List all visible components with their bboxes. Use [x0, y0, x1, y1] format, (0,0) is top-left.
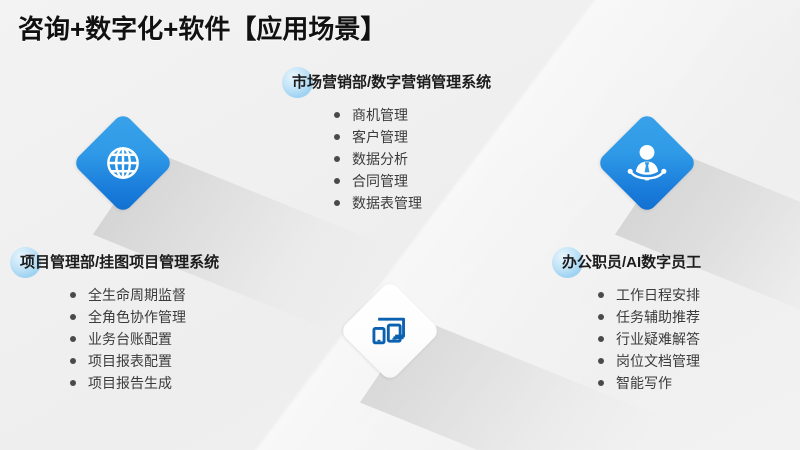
multi-device-icon — [368, 311, 412, 351]
section-marketing: 市场营销部/数字营销管理系统 商机管理 客户管理 数据分析 合同管理 数据表管理 — [288, 72, 491, 214]
bullet-list-ai: 工作日程安排 任务辅助推荐 行业疑难解答 岗位文档管理 智能写作 — [596, 284, 701, 394]
list-item: 业务台账配置 — [68, 328, 219, 350]
business-person-icon — [624, 141, 670, 185]
list-item: 项目报表配置 — [68, 350, 219, 372]
section-ai: 办公职员/AI数字员工 工作日程安排 任务辅助推荐 行业疑难解答 岗位文档管理 … — [558, 252, 701, 394]
list-item: 全角色协作管理 — [68, 306, 219, 328]
list-item: 全生命周期监督 — [68, 284, 219, 306]
list-item: 数据分析 — [332, 148, 491, 170]
list-item: 合同管理 — [332, 170, 491, 192]
list-item: 岗位文档管理 — [596, 350, 701, 372]
slide-canvas: 咨询+数字化+软件【应用场景】 — [0, 0, 800, 450]
list-item: 行业疑难解答 — [596, 328, 701, 350]
diamond-card-marketing[interactable] — [72, 112, 174, 214]
bullet-list-marketing: 商机管理 客户管理 数据分析 合同管理 数据表管理 — [332, 104, 491, 214]
diamond-card-project[interactable] — [339, 280, 441, 382]
list-item: 数据表管理 — [332, 192, 491, 214]
list-item: 工作日程安排 — [596, 284, 701, 306]
list-item: 商机管理 — [332, 104, 491, 126]
section-heading-marketing: 市场营销部/数字营销管理系统 — [288, 72, 491, 94]
section-heading-ai: 办公职员/AI数字员工 — [558, 252, 701, 274]
page-title: 咨询+数字化+软件【应用场景】 — [18, 9, 386, 46]
list-item: 客户管理 — [332, 126, 491, 148]
list-item: 智能写作 — [596, 372, 701, 394]
section-project: 项目管理部/挂图项目管理系统 全生命周期监督 全角色协作管理 业务台账配置 项目… — [16, 252, 219, 394]
list-item: 任务辅助推荐 — [596, 306, 701, 328]
diamond-card-ai[interactable] — [596, 112, 698, 214]
bullet-list-project: 全生命周期监督 全角色协作管理 业务台账配置 项目报表配置 项目报告生成 — [68, 284, 219, 394]
list-item: 项目报告生成 — [68, 372, 219, 394]
section-heading-project: 项目管理部/挂图项目管理系统 — [16, 252, 219, 274]
globe-icon — [101, 141, 145, 185]
